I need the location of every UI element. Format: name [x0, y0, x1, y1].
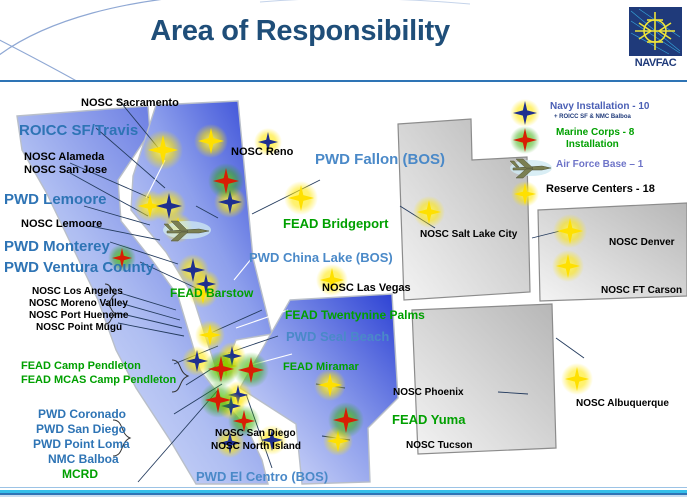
- label-nosc-los-angeles: NOSC Los Angeles: [32, 287, 123, 298]
- label-fead-twentynine-palms: FEAD Twentynine Palms: [285, 309, 425, 322]
- label-nosc-sacramento: NOSC Sacramento: [81, 98, 179, 110]
- page-title: Area of Responsibility: [0, 15, 600, 48]
- navfac-logo: NAVFAC: [629, 7, 682, 72]
- label-nosc-albuquerque: NOSC Albuquerque: [576, 399, 669, 410]
- navfac-logo-mark: [629, 7, 682, 56]
- label-nmc-balboa: NMC Balboa: [48, 453, 119, 466]
- label-nosc-alameda: NOSC Alameda: [24, 152, 104, 164]
- label-nosc-moreno-valley: NOSC Moreno Valley: [29, 299, 128, 310]
- label-pwd-seal-beach: PWD Seal Beach: [286, 330, 389, 344]
- label-mcrd: MCRD: [62, 468, 98, 481]
- reserve-star-icon: [508, 180, 542, 208]
- slide-header: Area of Responsibility: [0, 0, 687, 82]
- legend-label-airforce: Air Force Base – 1: [556, 159, 643, 170]
- label-pwd-fallon: PWD Fallon (BOS): [315, 152, 445, 168]
- navy-star-icon: [508, 98, 542, 128]
- slide-canvas: Area of Responsibility: [0, 0, 687, 497]
- label-fead-miramar: FEAD Miramar: [283, 362, 359, 374]
- label-fead-bridgeport: FEAD Bridgeport: [283, 217, 388, 231]
- label-fead-barstow: FEAD Barstow: [170, 287, 253, 300]
- label-nosc-lemoore: NOSC Lemoore: [21, 219, 102, 231]
- legend-label-reserve: Reserve Centers - 18: [546, 183, 655, 195]
- legend-sublabel-marine: Installation: [566, 139, 619, 150]
- state-new-mexico: [412, 304, 556, 454]
- label-nosc-san-jose: NOSC San Jose: [24, 165, 107, 177]
- label-pwd-china-lake: PWD China Lake (BOS): [249, 251, 393, 265]
- label-nosc-phoenix: NOSC Phoenix: [393, 388, 464, 399]
- label-nosc-san-diego: NOSC San Diego: [215, 429, 296, 440]
- label-nosc-las-vegas: NOSC Las Vegas: [322, 283, 411, 295]
- label-pwd-ventura-county: PWD Ventura County: [4, 260, 154, 276]
- label-nosc-tucson: NOSC Tucson: [406, 441, 472, 452]
- label-pwd-san-diego: PWD San Diego: [36, 423, 126, 436]
- legend-label-navy: Navy Installation - 10: [550, 101, 649, 112]
- label-nosc-reno: NOSC Reno: [231, 147, 293, 159]
- label-pwd-lemoore: PWD Lemoore: [4, 192, 107, 208]
- label-nosc-north-island: NOSC North Island: [211, 442, 301, 453]
- label-nosc-port-hueneme: NOSC Port Hueneme: [29, 311, 128, 322]
- label-pwd-coronado: PWD Coronado: [38, 408, 126, 421]
- map-legend: Navy Installation - 10 + ROICC SF & NMC …: [508, 98, 687, 196]
- label-pwd-el-centro: PWD El Centro (BOS): [196, 470, 328, 484]
- label-nosc-point-mugu: NOSC Point Mugu: [36, 323, 122, 334]
- label-nosc-ft-carson: NOSC FT Carson: [601, 286, 682, 297]
- label-roicc-sf-travis: ROICC SF/Travis: [19, 123, 138, 139]
- aircraft-icon: [508, 156, 554, 180]
- label-nosc-denver: NOSC Denver: [609, 238, 675, 249]
- label-pwd-point-loma: PWD Point Loma: [33, 438, 130, 451]
- label-fead-yuma: FEAD Yuma: [392, 413, 465, 427]
- label-pwd-monterey: PWD Monterey: [4, 239, 110, 255]
- legend-sublabel-navy: + ROICC SF & NMC Balboa: [554, 114, 631, 121]
- marine-star-icon: [508, 125, 542, 155]
- label-fead-mcas-camp-pendleton: FEAD MCAS Camp Pendleton: [21, 375, 176, 387]
- label-nosc-salt-lake-city: NOSC Salt Lake City: [420, 230, 517, 241]
- label-fead-camp-pendleton: FEAD Camp Pendleton: [21, 361, 141, 373]
- legend-label-marine: Marine Corps - 8: [556, 127, 634, 138]
- navfac-logo-text: NAVFAC: [629, 57, 682, 69]
